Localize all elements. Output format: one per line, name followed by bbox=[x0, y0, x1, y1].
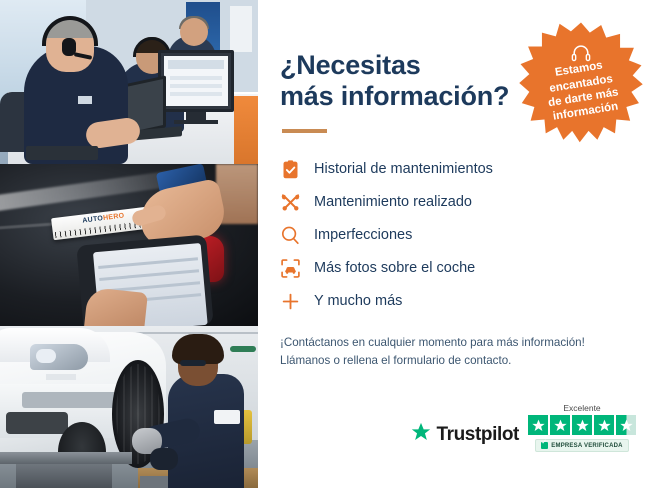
lift-arm bbox=[0, 452, 132, 464]
head-light bbox=[30, 344, 88, 370]
upper-grille bbox=[22, 392, 120, 408]
head-light-lens bbox=[36, 349, 56, 363]
star-filled-icon bbox=[528, 415, 548, 435]
star-filled-icon bbox=[594, 415, 614, 435]
list-item: Historial de mantenimientos bbox=[280, 153, 628, 186]
green-hose bbox=[230, 346, 256, 352]
page-title-line-2: más información? bbox=[280, 81, 509, 111]
status-badge-verified: EMPRESA VERIFICADA bbox=[535, 439, 628, 452]
page-title: ¿Necesitas más información? bbox=[280, 50, 515, 113]
check-box-icon bbox=[541, 442, 548, 449]
agent-background-head bbox=[180, 18, 208, 46]
feature-label: Más fotos sobre el coche bbox=[314, 260, 475, 276]
contact-blurb-line-1: ¡Contáctanos en cualquier momento para m… bbox=[280, 334, 628, 353]
screen-row bbox=[170, 92, 222, 96]
safety-glasses-icon bbox=[180, 360, 206, 366]
page-title-line-1: ¿Necesitas bbox=[280, 50, 421, 80]
orange-partition bbox=[234, 96, 258, 164]
trustpilot-wordmark: Trustpilot bbox=[436, 424, 519, 446]
autohero-uniform-logo bbox=[214, 410, 240, 424]
call-center-agents-photo bbox=[0, 0, 258, 164]
tablet-row bbox=[99, 269, 199, 281]
wrench-screwdriver-icon bbox=[280, 192, 301, 213]
screen-row bbox=[170, 84, 222, 88]
car-inspection-ruler-photo: AUTOHERO bbox=[0, 164, 258, 326]
content-panel: ¿Necesitas más información? Historial de… bbox=[258, 0, 650, 488]
star-filled-icon bbox=[572, 415, 592, 435]
feature-label: Imperfecciones bbox=[314, 227, 412, 243]
wall-sheet bbox=[230, 6, 252, 52]
contact-blurb-line-2: Llámanos o rellena el formulario de cont… bbox=[280, 352, 628, 371]
clipboard-check-icon bbox=[280, 159, 301, 180]
trustpilot-rating-block[interactable]: Trustpilot Excelente bbox=[410, 403, 636, 452]
contact-blurb: ¡Contáctanos en cualquier momento para m… bbox=[280, 334, 628, 372]
desktop-monitor bbox=[158, 50, 234, 112]
status-badge: Estamos encantados de darte más informac… bbox=[518, 20, 644, 146]
list-item: Y mucho más bbox=[280, 285, 628, 318]
list-item: Más fotos sobre el coche bbox=[280, 252, 628, 285]
list-item: Imperfecciones bbox=[280, 219, 628, 252]
star-filled-icon bbox=[550, 415, 570, 435]
monitor-screen bbox=[164, 56, 228, 106]
list-item: Mantenimiento realizado bbox=[280, 186, 628, 219]
star-rating bbox=[528, 415, 636, 435]
inspector-hand-holding-tablet bbox=[84, 287, 148, 326]
work-glove-second bbox=[150, 448, 178, 470]
trustpilot-star-icon bbox=[410, 421, 432, 448]
magnifier-icon bbox=[280, 225, 301, 246]
license-plate-recess bbox=[46, 374, 76, 380]
lower-grille bbox=[6, 412, 68, 434]
name-badge bbox=[78, 96, 92, 104]
plus-icon bbox=[280, 291, 301, 312]
desk-tablet bbox=[26, 146, 98, 160]
feature-label: Mantenimiento realizado bbox=[314, 194, 472, 210]
ruler-brand-hero: HERO bbox=[103, 212, 125, 222]
feature-label: Y mucho más bbox=[314, 293, 402, 309]
lift-base bbox=[16, 464, 112, 488]
badge-text: Estamos encantados de darte más informac… bbox=[509, 11, 650, 155]
trustpilot-logo[interactable]: Trustpilot bbox=[410, 421, 519, 452]
star-half-icon bbox=[616, 415, 636, 435]
car-photo-frame-icon bbox=[280, 258, 301, 279]
tablet-row bbox=[98, 257, 198, 269]
trustpilot-score: Excelente bbox=[528, 403, 636, 452]
workshop-tire-check-photo bbox=[0, 326, 258, 488]
information-promo-poster: AUTOHERO bbox=[0, 0, 650, 488]
rating-label: Excelente bbox=[563, 403, 600, 413]
photo-column: AUTOHERO bbox=[0, 0, 258, 488]
verified-label: EMPRESA VERIFICADA bbox=[551, 443, 622, 449]
feature-label: Historial de mantenimientos bbox=[314, 161, 493, 177]
screen-toolbar bbox=[168, 60, 224, 69]
monitor-base bbox=[174, 120, 218, 124]
title-underline-accent bbox=[282, 129, 327, 133]
feature-list: Historial de mantenimientos M bbox=[280, 153, 628, 318]
ruler-brand-auto: AUTO bbox=[82, 215, 104, 224]
screen-row bbox=[170, 76, 222, 80]
